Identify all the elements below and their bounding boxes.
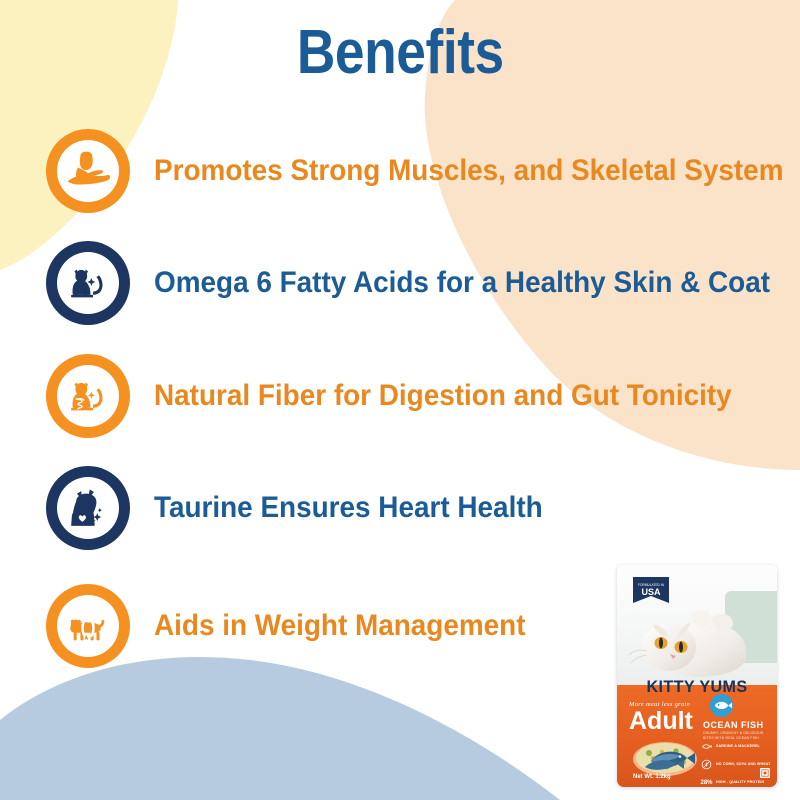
cat-heart-icon — [61, 481, 115, 535]
benefit-text-1: Promotes Strong Muscles, and Skeletal Sy… — [154, 155, 784, 187]
cat-measuring-tape-icon — [61, 599, 115, 653]
benefit-text-4: Taurine Ensures Heart Health — [154, 492, 543, 524]
product-variant: OCEAN FISH — [703, 720, 764, 730]
benefit-icon-2 — [46, 241, 130, 325]
benefit-row-5: Aids in Weight Management — [46, 583, 553, 669]
benefit-icon-3 — [46, 354, 130, 438]
product-package: FORMULATED IN USA KITTY YUMS More meat l… — [617, 565, 777, 787]
benefit-icon-5 — [46, 584, 130, 668]
product-food-image — [631, 737, 699, 777]
usa-badge-label: USA — [641, 587, 661, 597]
benefit-icon-4 — [46, 466, 130, 550]
infographic-canvas: Benefits — [0, 0, 800, 800]
product-brand: KITTY YUMS — [621, 677, 773, 697]
certification-mark — [760, 768, 770, 778]
cat-bone-hand-icon — [61, 144, 115, 198]
fish-icon — [701, 741, 712, 752]
cat-sitting-sparkle-icon — [61, 256, 115, 310]
usa-badge: FORMULATED IN USA — [631, 577, 671, 609]
benefit-text-2: Omega 6 Fatty Acids for a Healthy Skin &… — [154, 267, 770, 299]
product-feature-3-label: HIGH - QUALITY PROTEIN — [716, 780, 764, 785]
product-net-weight: Net Wt. 1.2kg — [633, 774, 671, 780]
benefit-icon-1 — [46, 129, 130, 213]
benefit-text-5: Aids in Weight Management — [154, 610, 526, 642]
benefit-row-3: Natural Fiber for Digestion and Gut Toni… — [46, 353, 775, 439]
protein-percent-label: 28% — [701, 777, 712, 787]
benefit-row-1: Promotes Strong Muscles, and Skeletal Sy… — [46, 128, 800, 214]
product-feature-2-label: NO CORN, SOYA AND WHEAT — [716, 762, 771, 767]
benefit-row-4: Taurine Ensures Heart Health — [46, 465, 572, 551]
benefit-row-2: Omega 6 Fatty Acids for a Healthy Skin &… — [46, 240, 800, 326]
product-feature-1: SARDINE & MACKEREL — [701, 741, 773, 752]
product-feature-list: SARDINE & MACKEREL NO CORN, SOYA AND WHE… — [701, 741, 773, 787]
cat-digestion-icon — [61, 369, 115, 423]
product-variant-sub: CHUNKY, CRUNCHY & DELICIOUS BITES WITH R… — [703, 731, 765, 740]
product-feature-1-label: SARDINE & MACKEREL — [716, 744, 760, 749]
product-feature-3: 28% HIGH - QUALITY PROTEIN — [701, 777, 773, 787]
benefit-text-3: Natural Fiber for Digestion and Gut Toni… — [154, 380, 732, 412]
fish-badge-icon — [709, 693, 734, 718]
no-grain-icon — [701, 759, 712, 770]
product-life-stage: Adult — [629, 709, 693, 734]
